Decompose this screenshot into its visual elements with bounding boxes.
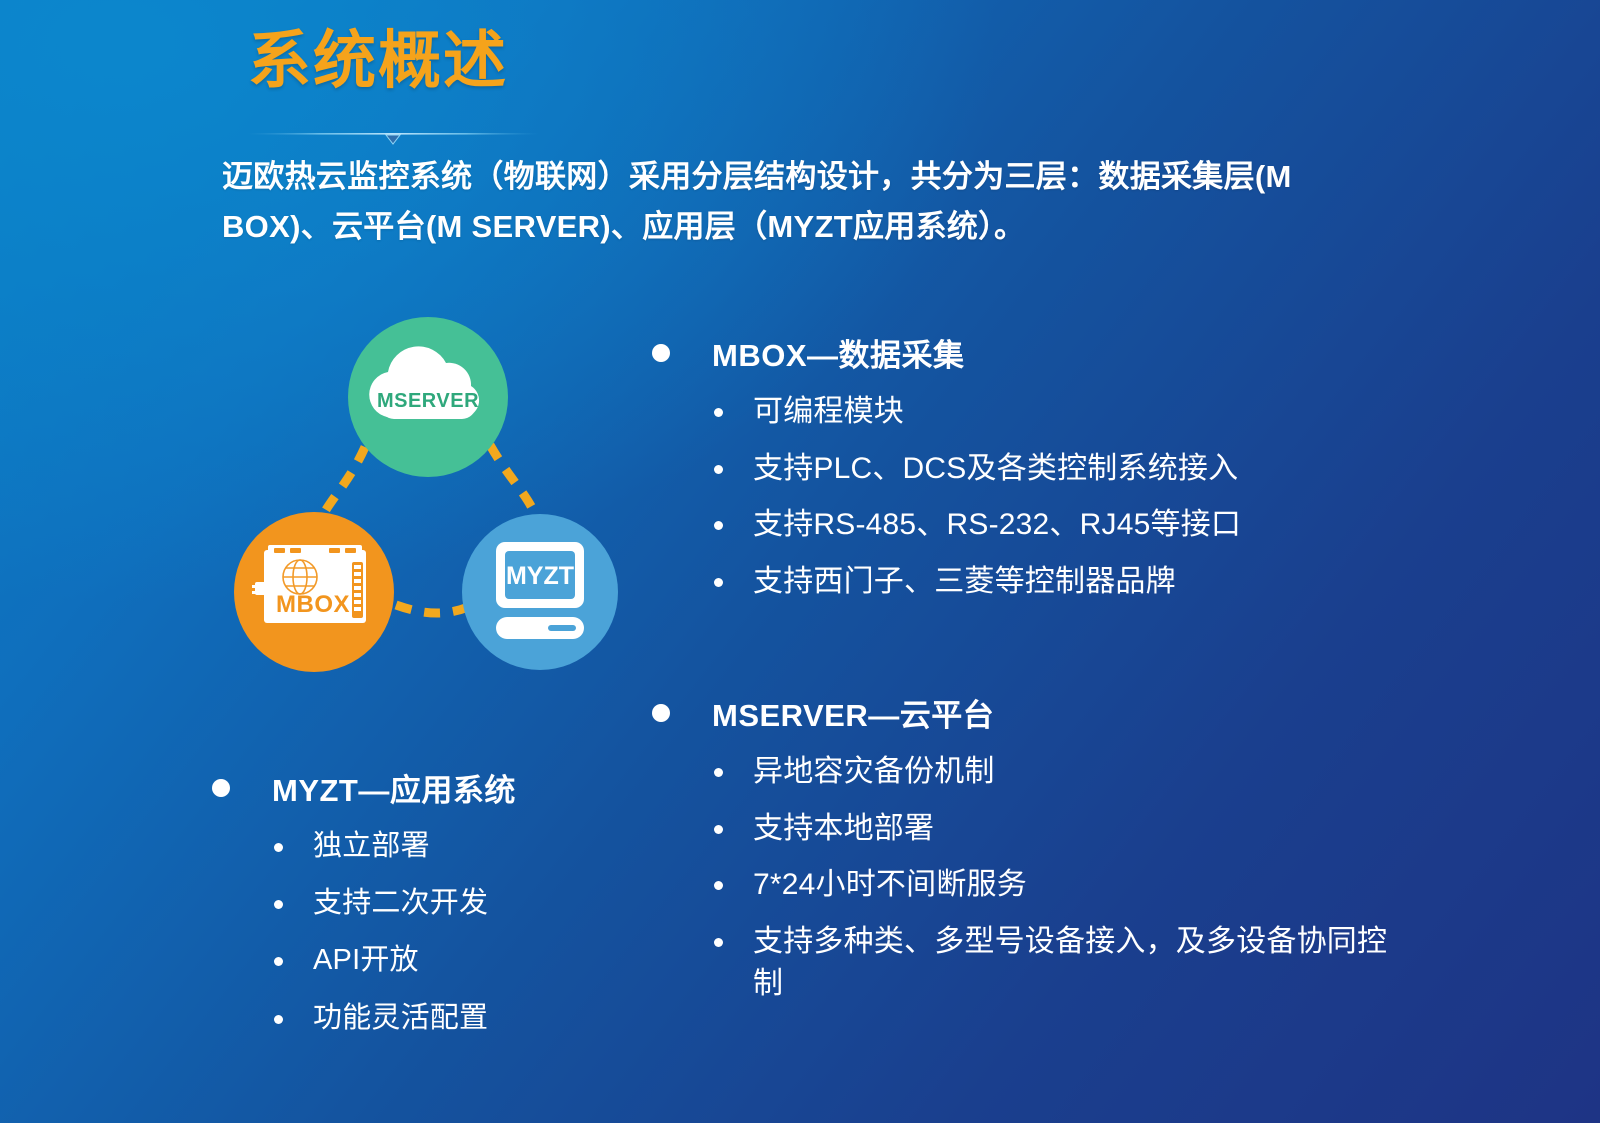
section-myzt: MYZT—应用系统 独立部署 支持二次开发 API开放 功能灵活配置 xyxy=(212,765,652,1055)
list-item-label: 支持西门子、三菱等控制器品牌 xyxy=(753,561,1176,604)
dot-icon xyxy=(714,768,723,777)
architecture-diagram: MSERVER xyxy=(180,305,650,695)
dot-icon xyxy=(714,825,723,834)
dot-icon xyxy=(714,881,723,890)
list-item-label: 异地容灾备份机制 xyxy=(753,751,995,794)
desktop-computer-icon xyxy=(496,542,584,639)
list-item: 支持多种类、多型号设备接入，及多设备协同控制 xyxy=(714,921,1412,1006)
connector-mserver-myzt xyxy=(490,445,536,517)
bullet-icon xyxy=(652,344,670,362)
diagram-node-mserver-label: MSERVER xyxy=(377,390,479,412)
list-item-label: 支持多种类、多型号设备接入，及多设备协同控制 xyxy=(753,921,1412,1006)
dot-icon xyxy=(714,521,723,530)
list-item-label: 可编程模块 xyxy=(753,391,904,434)
page-title: 系统概述 xyxy=(248,26,808,97)
dot-icon xyxy=(274,900,283,909)
section-mbox-heading-text: MBOX—数据采集 xyxy=(712,330,965,375)
dot-icon xyxy=(714,408,723,417)
list-item-label: 7*24小时不间断服务 xyxy=(753,864,1027,907)
section-mserver-list: 异地容灾备份机制 支持本地部署 7*24小时不间断服务 支持多种类、多型号设备接… xyxy=(714,751,1412,1006)
title-underline-decoration xyxy=(248,130,538,148)
list-item: API开放 xyxy=(274,940,652,981)
list-item-label: 独立部署 xyxy=(313,826,430,867)
dot-icon xyxy=(274,957,283,966)
section-myzt-heading: MYZT—应用系统 xyxy=(212,765,652,810)
connector-mserver-mbox xyxy=(321,447,365,520)
list-item: 7*24小时不间断服务 xyxy=(714,864,1412,907)
list-item: 支持RS-485、RS-232、RJ45等接口 xyxy=(714,504,1412,547)
lead-paragraph: 迈欧热云监控系统（物联网）采用分层结构设计，共分为三层：数据采集层(M BOX)… xyxy=(222,152,1382,252)
section-myzt-heading-text: MYZT—应用系统 xyxy=(272,765,516,810)
diagram-node-mserver[interactable]: MSERVER xyxy=(348,317,508,477)
list-item: 功能灵活配置 xyxy=(274,998,652,1039)
diagram-node-mbox-label: MBOX xyxy=(276,591,350,618)
section-mbox: MBOX—数据采集 可编程模块 支持PLC、DCS及各类控制系统接入 支持RS-… xyxy=(652,330,1412,617)
dot-icon xyxy=(714,465,723,474)
list-item-label: 支持RS-485、RS-232、RJ45等接口 xyxy=(753,504,1241,547)
dot-icon xyxy=(714,938,723,947)
section-myzt-list: 独立部署 支持二次开发 API开放 功能灵活配置 xyxy=(274,826,652,1039)
bullet-icon xyxy=(212,779,230,797)
list-item: 支持西门子、三菱等控制器品牌 xyxy=(714,561,1412,604)
section-mserver: MSERVER—云平台 异地容灾备份机制 支持本地部署 7*24小时不间断服务 … xyxy=(652,690,1412,1020)
bullet-icon xyxy=(652,704,670,722)
diagram-node-mbox[interactable]: MBOX xyxy=(234,512,394,672)
diagram-node-myzt-label: MYZT xyxy=(506,562,574,590)
list-item-label: 功能灵活配置 xyxy=(313,998,488,1039)
list-item: 独立部署 xyxy=(274,826,652,867)
list-item: 支持本地部署 xyxy=(714,808,1412,851)
list-item-label: API开放 xyxy=(313,940,419,981)
section-mserver-heading: MSERVER—云平台 xyxy=(652,690,1412,735)
list-item: 可编程模块 xyxy=(714,391,1412,434)
title-block: 系统概述 xyxy=(248,26,808,97)
list-item: 支持二次开发 xyxy=(274,883,652,924)
list-item-label: 支持PLC、DCS及各类控制系统接入 xyxy=(753,448,1238,491)
section-mbox-heading: MBOX—数据采集 xyxy=(652,330,1412,375)
section-mserver-heading-text: MSERVER—云平台 xyxy=(712,690,994,735)
dot-icon xyxy=(274,843,283,852)
dot-icon xyxy=(714,578,723,587)
dot-icon xyxy=(274,1015,283,1024)
list-item: 支持PLC、DCS及各类控制系统接入 xyxy=(714,448,1412,491)
diagram-node-myzt[interactable]: MYZT xyxy=(462,514,618,670)
list-item-label: 支持本地部署 xyxy=(753,808,934,851)
list-item: 异地容灾备份机制 xyxy=(714,751,1412,794)
list-item-label: 支持二次开发 xyxy=(313,883,488,924)
section-mbox-list: 可编程模块 支持PLC、DCS及各类控制系统接入 支持RS-485、RS-232… xyxy=(714,391,1412,603)
